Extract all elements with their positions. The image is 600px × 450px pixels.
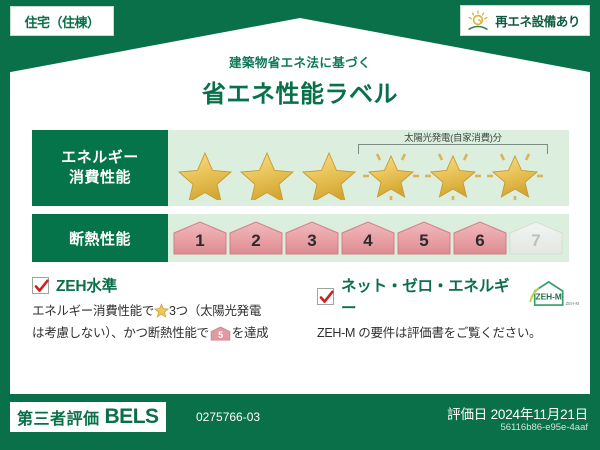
evaluation-date-label: 評価日 (447, 407, 487, 422)
building-type-tag: 住宅（住棟） (10, 6, 114, 36)
svg-text:ZEH-M: ZEH-M (566, 301, 580, 306)
net-zero-energy-checkbox[interactable] (317, 288, 334, 305)
title-main: 省エネ性能ラベル (0, 74, 600, 109)
insulation-grade-2-value: 2 (251, 231, 260, 256)
bels-number: 0275766-03 (196, 410, 260, 424)
star-5-solar (422, 148, 484, 200)
energy-performance-label: 住宅（住棟） 再エネ設備あり (0, 0, 600, 450)
insulation-grade-2: 2 (228, 220, 284, 256)
insulation-grade-group: 1 2 3 (168, 214, 569, 262)
net-zero-energy-title: ネット・ゼロ・エネルギー (341, 274, 517, 318)
renewable-equipment-label: 再エネ設備あり (495, 11, 580, 30)
label-title-block: 建築物省エネ法に基づく 省エネ性能ラベル (0, 52, 600, 109)
zeh-desc-part3: は考慮しない）、かつ断熱性能で (32, 326, 209, 340)
star-1 (174, 148, 236, 200)
insulation-grade-1-value: 1 (195, 231, 204, 256)
renewable-equipment-badge: 再エネ設備あり (460, 5, 590, 36)
svg-text:ZEH-M: ZEH-M (536, 291, 562, 301)
zeh-standard-description: エネルギー消費性能で 3つ（太陽光発電 は考慮しない）、かつ断熱性能で 5 を達… (32, 302, 300, 348)
insulation-performance-row: 断熱性能 (32, 214, 569, 262)
energy-performance-row: エネルギー 消費性能 太陽光発電(自家消費)分 (32, 130, 569, 206)
bels-en-label: BELS (105, 405, 159, 429)
insulation-grade-4-value: 4 (363, 231, 372, 256)
insulation-performance-label: 断熱性能 (32, 214, 168, 262)
energy-performance-label: エネルギー 消費性能 (32, 130, 168, 206)
energy-label-line1: エネルギー (61, 148, 139, 168)
insulation-grade-5-value: 5 (419, 231, 428, 256)
inline-grade-badge: 5 (210, 326, 231, 347)
insulation-grade-1: 1 (172, 220, 228, 256)
zeh-desc-part4: を達成 (232, 326, 269, 340)
evaluation-hash: 56116b86-e95e-4aaf (500, 422, 588, 433)
evaluation-date: 評価日 2024年11月21日 (447, 403, 588, 423)
bels-jp-label: 第三者評価 (17, 405, 100, 429)
star-6-solar (484, 148, 546, 200)
net-zero-energy-description: ZEH-M の要件は評価書をご覧ください。 (317, 324, 582, 343)
solar-bracket (358, 144, 548, 154)
zeh-standard-title: ZEH水準 (56, 274, 117, 296)
inline-star-icon (154, 303, 169, 324)
title-subtitle: 建築物省エネ法に基づく (0, 52, 600, 71)
label-footer: 第三者評価 BELS 0275766-03 評価日 2024年11月21日 56… (0, 394, 600, 450)
net-zero-energy-block: ネット・ゼロ・エネルギー ZEH-M ZEH-M ZEH-M の要件は評価書をご… (317, 274, 582, 343)
star-2 (236, 148, 298, 200)
solar-generation-note: 太陽光発電(自家消費)分 (348, 130, 558, 144)
star-4-solar (360, 148, 422, 200)
label-body-card: エネルギー 消費性能 太陽光発電(自家消費)分 (10, 112, 590, 394)
energy-rating-field: 太陽光発電(自家消費)分 (168, 130, 569, 206)
insulation-grade-6-value: 6 (475, 231, 484, 256)
zeh-desc-part1: エネルギー消費性能で (32, 304, 154, 318)
insulation-grade-5: 5 (396, 220, 452, 256)
insulation-grade-6: 6 (452, 220, 508, 256)
sun-icon (466, 10, 490, 32)
insulation-grade-7: 7 (508, 220, 564, 256)
star-3 (298, 148, 360, 200)
zeh-desc-part2: 3つ（太陽光発電 (169, 304, 261, 318)
zeh-standard-head: ZEH水準 (32, 274, 300, 296)
zeh-m-logo-icon: ZEH-M ZEH-M (526, 279, 582, 313)
criteria-section: ZEH水準 エネルギー消費性能で 3つ（太陽光発電 は考慮しない）、かつ断熱性能… (32, 274, 582, 374)
insulation-grade-4: 4 (340, 220, 396, 256)
zeh-standard-block: ZEH水準 エネルギー消費性能で 3つ（太陽光発電 は考慮しない）、かつ断熱性能… (32, 274, 300, 348)
evaluation-date-value: 2024年11月21日 (491, 407, 588, 422)
svg-text:5: 5 (218, 330, 223, 340)
insulation-grade-7-value: 7 (531, 231, 540, 256)
label-header: 住宅（住棟） 再エネ設備あり (0, 0, 600, 122)
building-type-label: 住宅（住棟） (24, 12, 99, 31)
energy-label-line2: 消費性能 (61, 168, 139, 188)
zeh-standard-checkbox[interactable] (32, 277, 49, 294)
bels-badge: 第三者評価 BELS (10, 402, 166, 432)
insulation-grade-3-value: 3 (307, 231, 316, 256)
insulation-rating-field: 1 2 3 (168, 214, 569, 262)
net-zero-energy-head: ネット・ゼロ・エネルギー ZEH-M ZEH-M (317, 274, 582, 318)
insulation-grade-3: 3 (284, 220, 340, 256)
